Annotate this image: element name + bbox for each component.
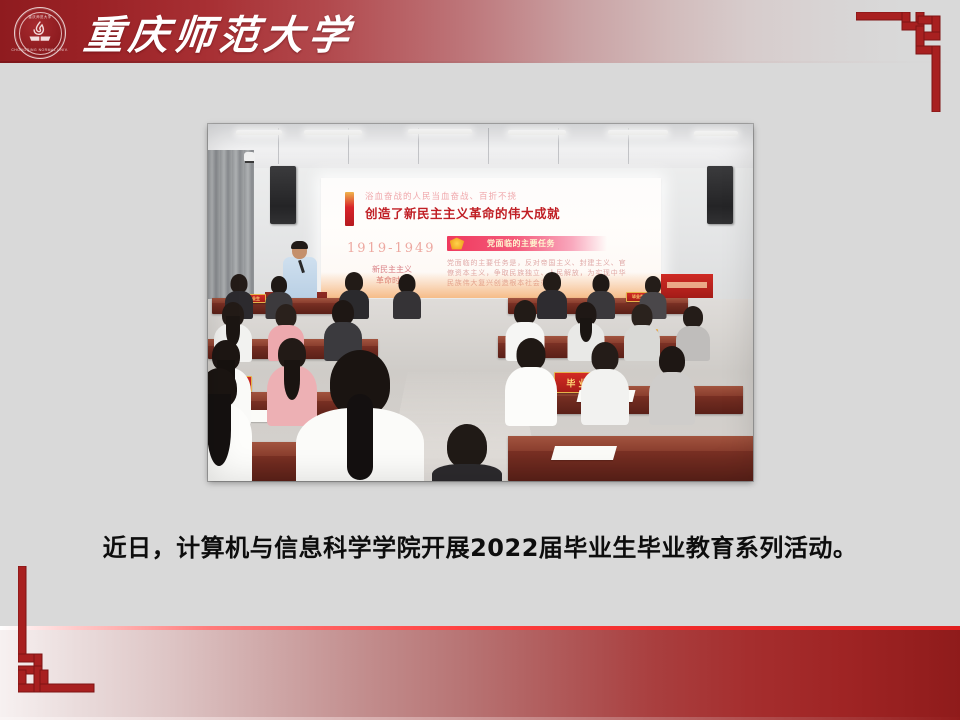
emblem-top-text: 重庆师范大学 [28, 14, 51, 19]
party-emblem-icon [449, 237, 465, 250]
audience-person-foreground-right [436, 424, 498, 481]
chinese-corner-ornament-top-right-icon [856, 12, 948, 112]
wall-speaker-right-icon [707, 166, 733, 224]
slide-main-title: 创造了新民主主义革命的伟大成就 [365, 203, 560, 222]
slide-caption: 近日，计算机与信息科学学院开展2022届毕业生毕业教育系列活动。 [0, 531, 960, 565]
audience-person [508, 338, 554, 424]
presentation-slide: 重庆师范大学 CHONGQING NORMAL UNIV. 重庆师范大学 [0, 0, 960, 720]
audience-person [538, 272, 566, 318]
event-photo-frame: 浴血奋战的人民当血奋战、百折不挠 创造了新民主主义革命的伟大成就 1919-19… [208, 124, 753, 481]
slide-banner-text: 党面临的主要任务 [487, 238, 555, 249]
audience-person [652, 346, 692, 424]
handout-paper [551, 446, 617, 460]
emblem-bottom-text: CHONGQING NORMAL UNIV. [11, 48, 68, 52]
desk-row-1-right [508, 436, 753, 481]
slide-pink-banner: 党面临的主要任务 [447, 236, 607, 251]
wall-speaker-left-icon [270, 166, 296, 224]
event-photo: 浴血奋战的人民当血奋战、百折不挠 创造了新民主主义革命的伟大成就 1919-19… [208, 124, 753, 481]
audience-person [394, 274, 420, 318]
side-red-banner [661, 274, 713, 298]
slide-faint-title: 浴血奋战的人民当血奋战、百折不挠 [365, 190, 517, 202]
slide-year-range: 1919-1949 [347, 241, 436, 256]
audience-person [584, 342, 626, 424]
audience-person-foreground-center [300, 350, 420, 481]
chinese-corner-ornament-bottom-left-icon [18, 566, 110, 696]
university-wordmark: 重庆师范大学 [81, 7, 356, 57]
ceiling [208, 124, 753, 170]
audience-person-foreground-left [208, 368, 248, 481]
slide-header-band: 重庆师范大学 CHONGQING NORMAL UNIV. 重庆师范大学 [0, 0, 960, 63]
slide-numeral [345, 192, 354, 226]
security-camera-icon [244, 152, 255, 161]
footer-gradient-fill [0, 630, 960, 720]
slide-footer-band [0, 626, 960, 720]
university-emblem-icon: 重庆师范大学 CHONGQING NORMAL UNIV. [14, 7, 66, 59]
emblem-flame-book-mark [27, 20, 53, 44]
